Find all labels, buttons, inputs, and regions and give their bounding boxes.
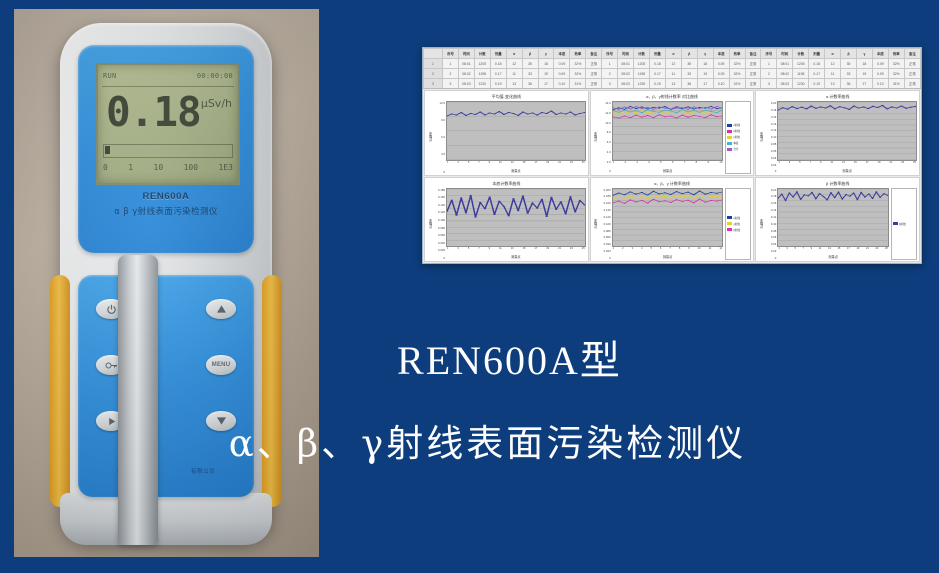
chart-title: 本底计数率曲线 — [427, 180, 586, 188]
table-cell: 36 — [522, 79, 538, 89]
chart-x-tick: 3 — [632, 247, 633, 254]
table-header-cell: 计数 — [634, 49, 650, 59]
table-cell: 0.18 — [490, 59, 506, 69]
legend-swatch — [893, 222, 898, 225]
chart-title: α、β、γ 计数率曲线 — [593, 180, 752, 188]
legend-item: 合计 — [727, 146, 749, 152]
chart-x-tick: 21 — [558, 247, 561, 254]
device-footer-right: 有限公司 — [191, 467, 215, 475]
table-cell: 32% — [888, 59, 904, 69]
table-cell: 08:01 — [618, 59, 634, 69]
chart-y-tick: 0.08 — [764, 229, 776, 233]
chart-x-tick: 1 — [778, 161, 779, 168]
chart-x-tick: 1 — [447, 161, 448, 168]
table-cell: 0.10 — [872, 79, 888, 89]
table-cell: 32% — [729, 69, 745, 79]
chart-x-tick: 12 — [719, 247, 722, 254]
table-header-cell: 备注 — [586, 49, 602, 59]
lcd-scale-0: 0 — [103, 163, 108, 172]
chart-y-tick: 0.16 — [764, 201, 776, 205]
chart-x-tick: 3 — [457, 161, 458, 168]
chart-y-ticks: 0.200.180.160.140.120.100.080.060.040.02… — [764, 188, 777, 261]
chart-x-tick: 7 — [803, 247, 804, 254]
chart-x-tick: 17 — [534, 247, 537, 254]
chart-y-tick: 0 — [764, 169, 776, 173]
chart-x-tick: 13 — [511, 161, 514, 168]
chart-y-tick: 0.020 — [599, 249, 611, 253]
legend-swatch — [727, 148, 732, 151]
legend-swatch — [727, 228, 732, 231]
table-row-header: 1 — [424, 59, 443, 69]
chart-x-tick: 7 — [478, 161, 479, 168]
chart-legend: β射线 — [891, 188, 917, 261]
table-cell: 3 — [602, 79, 618, 89]
chart-y-tick: 0.04 — [764, 242, 776, 246]
table-header-cell: β — [522, 49, 538, 59]
device-front-panel-top: RUN 00:00:00 0.18 μSv/h 0 1 10 100 1E3 — [78, 45, 254, 253]
charts-grid: 平均值-变化曲线计数率12.09.06.03.00135791113151719… — [423, 89, 921, 263]
lcd-scale-labels: 0 1 10 100 1E3 — [103, 160, 233, 174]
chart-legend: α射线γ射线β射线 — [725, 188, 751, 261]
grip-left-accent — [50, 275, 70, 507]
table-header-cell: 序号 — [602, 49, 618, 59]
table-cell: 0.19 — [649, 79, 665, 89]
table-cell: 35 — [522, 59, 538, 69]
chart-y-tick: 3.0 — [433, 152, 445, 156]
chart-title: α、β、γ射线计数率 对比曲线 — [593, 93, 752, 101]
chart-y-tick: 0.04 — [764, 156, 776, 160]
table-cell: 1 — [443, 59, 459, 69]
chart-x-tick: 5 — [650, 247, 651, 254]
chart-x-tick: 21 — [866, 247, 869, 254]
chart-x-tick: 9 — [708, 161, 709, 168]
chart-title: 平均值-变化曲线 — [427, 93, 586, 101]
chart-x-tick: 1 — [778, 247, 779, 254]
table-header-cell: 计数 — [793, 49, 809, 59]
legend-swatch — [727, 222, 732, 225]
table-cell: 17 — [856, 79, 872, 89]
chart-x-tick: 4 — [648, 161, 649, 168]
chart-x-tick: 5 — [468, 247, 469, 254]
chart-x-tick: 3 — [789, 161, 790, 168]
table-cell: 0.18 — [649, 59, 665, 69]
lcd-scale-1: 1 — [128, 163, 133, 172]
table-cell: 正常 — [586, 59, 602, 69]
table-header-cell: 时间 — [777, 49, 793, 59]
table-cell: 0.09 — [554, 69, 570, 79]
table-row: 3308:0312300.191336170.1031%正常308:031230… — [424, 79, 921, 89]
table-cell: 0.10 — [713, 79, 729, 89]
chart-y-tick: 0 — [599, 256, 611, 260]
chart-x-axis-label: 测量点 — [446, 254, 586, 260]
chart-x-tick: 23 — [875, 247, 878, 254]
chart-y-tick: 0 — [433, 256, 445, 260]
device-model-sublabel: α β γ射线表面污染检测仪 — [78, 205, 254, 217]
table-cell: 1230 — [474, 79, 490, 89]
table-cell: 08:02 — [618, 69, 634, 79]
table-cell: 11 — [825, 69, 841, 79]
lcd-divider — [102, 86, 234, 87]
table-cell: 0.09 — [872, 59, 888, 69]
legend-swatch — [727, 216, 732, 219]
table-header-cell: 序号 — [761, 49, 777, 59]
triangle-up-icon — [216, 304, 227, 314]
table-cell: 3 — [443, 79, 459, 89]
chart-y-tick: 4.0 — [599, 150, 611, 154]
table-cell: 正常 — [904, 59, 920, 69]
chart-legend: α射线β射线γ射线本底合计 — [725, 101, 751, 174]
table-cell: 1230 — [793, 79, 809, 89]
legend-label: β射线 — [733, 129, 740, 133]
table-cell: 08:02 — [458, 69, 474, 79]
chart-y-tick: 0.140 — [599, 208, 611, 212]
chart-x-tick: 11 — [499, 161, 502, 168]
chart-x-tick: 23 — [570, 247, 573, 254]
chart-x-tick: 6 — [660, 247, 661, 254]
table-cell: 0.17 — [809, 69, 825, 79]
chart-x-ticks: 123456789101112 — [612, 247, 724, 254]
chart-y-ticks: 0.200.180.160.140.120.100.080.060.040.02… — [764, 101, 777, 174]
chart-y-tick: 0.040 — [599, 242, 611, 246]
chart-y-tick: 0.06 — [764, 235, 776, 239]
chart-y-tick: 0.02 — [764, 163, 776, 167]
table-cell: 11 — [665, 69, 681, 79]
chart-x-tick: 17 — [534, 161, 537, 168]
table-cell: 正常 — [904, 79, 920, 89]
lcd-scale-3: 100 — [184, 163, 198, 172]
chart-x-tick: 23 — [901, 161, 904, 168]
chart-x-tick: 25 — [885, 247, 888, 254]
grip-right-accent — [262, 275, 282, 507]
table-header-cell: α — [825, 49, 841, 59]
table-header-cell: γ — [856, 49, 872, 59]
table-cell: 13 — [506, 79, 522, 89]
chart-x-axis-label: 测量点 — [777, 254, 889, 260]
chart-y-tick: 0.06 — [764, 149, 776, 153]
chart-x-ticks: 135791113151719212325 — [446, 247, 586, 254]
table-cell: 18 — [856, 59, 872, 69]
chart-y-tick: 0.18 — [764, 194, 776, 198]
chart-x-tick: 5 — [468, 161, 469, 168]
data-table-grid: 序号时间计数剂量αβγ本底效率备注序号时间计数剂量αβγ本底效率备注序号时间计数… — [423, 48, 921, 89]
chart-x-tick: 19 — [546, 247, 549, 254]
chart-x-tick: 2 — [622, 247, 623, 254]
chart-x-tick: 7 — [810, 161, 811, 168]
table-cell: 2 — [443, 69, 459, 79]
chart-x-tick: 11 — [499, 247, 502, 254]
software-screenshot: 序号时间计数剂量αβγ本底效率备注序号时间计数剂量αβγ本底效率备注序号时间计数… — [422, 47, 922, 264]
table-header-cell: 序号 — [443, 49, 459, 59]
chart-x-tick: 3 — [457, 247, 458, 254]
table-cell: 正常 — [586, 69, 602, 79]
chart-x-tick: 13 — [828, 247, 831, 254]
chart-x-tick: 4 — [641, 247, 642, 254]
chart-y-tick: 12.0 — [599, 111, 611, 115]
legend-swatch — [727, 142, 732, 145]
table-cell: 2 — [761, 69, 777, 79]
table-cell: 32% — [570, 59, 586, 69]
chart-x-tick: 9 — [820, 161, 821, 168]
legend-label: 合计 — [733, 147, 738, 151]
chart-y-tick: 0.180 — [433, 188, 445, 192]
chart-panel: 平均值-变化曲线计数率12.09.06.03.00135791113151719… — [424, 90, 589, 176]
chart-y-tick: 0.10 — [764, 222, 776, 226]
chart-x-tick: 13 — [511, 247, 514, 254]
legend-item: β射线 — [893, 221, 915, 227]
chart-y-tick: 0 — [433, 170, 445, 174]
table-cell: 08:03 — [458, 79, 474, 89]
legend-label: γ射线 — [733, 135, 739, 139]
chart-x-tick: 10 — [719, 161, 722, 168]
chart-y-tick: 0.080 — [433, 226, 445, 230]
table-cell: 1205 — [634, 59, 650, 69]
chart-x-ticks: 135791113151719212325 — [777, 247, 889, 254]
chart-x-tick: 25 — [582, 161, 585, 168]
chart-y-ticks: 14.012.010.08.06.04.02.00 — [599, 101, 612, 174]
chart-x-tick: 5 — [794, 247, 795, 254]
table-row: 1108:0112050.181235180.0932%正常108:011205… — [424, 59, 921, 69]
chart-x-tick: 3 — [636, 161, 637, 168]
chart-x-tick: 7 — [684, 161, 685, 168]
table-row-header: 2 — [424, 69, 443, 79]
chart-x-tick: 1 — [613, 247, 614, 254]
chart-y-tick: 14.0 — [599, 101, 611, 105]
chart-x-tick: 9 — [489, 161, 490, 168]
chart-y-tick: 0.160 — [433, 195, 445, 199]
table-cell: 19 — [697, 69, 713, 79]
table-header-cell: 本底 — [554, 49, 570, 59]
chart-plot-area — [777, 188, 889, 248]
chart-y-tick: 0.10 — [764, 135, 776, 139]
chart-y-tick: 0.16 — [764, 115, 776, 119]
table-header-cell: γ — [538, 49, 554, 59]
chart-y-tick: 0 — [599, 169, 611, 173]
table-cell: 35 — [681, 59, 697, 69]
chart-x-tick: 19 — [856, 247, 859, 254]
legend-label: γ射线 — [733, 222, 739, 226]
table-cell: 1198 — [634, 69, 650, 79]
legend-label: 本底 — [733, 141, 738, 145]
table-header-cell: 本底 — [872, 49, 888, 59]
table-cell: 33 — [522, 69, 538, 79]
chart-y-tick: 0.20 — [764, 188, 776, 192]
table-cell: 0.09 — [713, 69, 729, 79]
table-cell: 17 — [538, 79, 554, 89]
table-cell: 正常 — [745, 79, 761, 89]
chart-y-tick: 0.120 — [433, 210, 445, 214]
table-header-cell: β — [841, 49, 857, 59]
chart-x-tick: 1 — [447, 247, 448, 254]
table-cell: 08:01 — [458, 59, 474, 69]
table-cell: 36 — [841, 79, 857, 89]
chart-y-tick: 0.060 — [599, 235, 611, 239]
chart-y-tick: 0 — [764, 256, 776, 260]
chart-y-tick: 12.0 — [433, 101, 445, 105]
table-cell: 1198 — [793, 69, 809, 79]
legend-swatch — [727, 130, 732, 133]
table-header-cell: 剂量 — [809, 49, 825, 59]
power-icon — [106, 304, 117, 315]
table-cell: 08:03 — [618, 79, 634, 89]
table-header-cell: β — [681, 49, 697, 59]
table-header-cell: α — [665, 49, 681, 59]
chart-y-tick: 10.0 — [599, 121, 611, 125]
chart-y-tick: 0.12 — [764, 128, 776, 132]
lcd-scale-4: 1E3 — [219, 163, 233, 172]
table-cell: 12 — [506, 59, 522, 69]
lcd-status-bar: RUN 00:00:00 — [103, 68, 233, 84]
table-cell: 32% — [888, 69, 904, 79]
chart-y-tick: 0.200 — [599, 188, 611, 192]
table-cell: 0.19 — [490, 79, 506, 89]
table-header-row: 序号时间计数剂量αβγ本底效率备注序号时间计数剂量αβγ本底效率备注序号时间计数… — [424, 49, 921, 59]
chart-y-tick: 0.020 — [433, 248, 445, 252]
data-table: 序号时间计数剂量αβγ本底效率备注序号时间计数剂量αβγ本底效率备注序号时间计数… — [423, 48, 921, 89]
chart-y-tick: 0.100 — [599, 222, 611, 226]
chart-x-tick: 19 — [546, 161, 549, 168]
chart-x-tick: 9 — [688, 247, 689, 254]
chart-x-tick: 5 — [799, 161, 800, 168]
chart-plot-area — [446, 101, 586, 161]
legend-label: α射线 — [733, 216, 740, 220]
table-cell: 31% — [729, 79, 745, 89]
chart-y-tick: 0.120 — [599, 215, 611, 219]
table-cell: 3 — [761, 79, 777, 89]
chart-x-tick: 9 — [811, 247, 812, 254]
chart-y-tick: 0.140 — [433, 203, 445, 207]
table-cell: 08:01 — [777, 59, 793, 69]
table-cell: 1205 — [793, 59, 809, 69]
table-cell: 正常 — [586, 79, 602, 89]
chart-panel: 本底计数率曲线计数率0.1800.1600.1400.1200.1000.080… — [424, 177, 589, 263]
chart-x-tick: 23 — [570, 161, 573, 168]
table-cell: 0.09 — [554, 59, 570, 69]
chart-y-tick: 0.12 — [764, 215, 776, 219]
chart-y-tick: 0.14 — [764, 208, 776, 212]
chart-x-ticks: 135791113151719212325 — [446, 161, 586, 168]
chart-plot-area — [777, 101, 917, 161]
table-cell: 11 — [506, 69, 522, 79]
table-cell: 0.09 — [713, 59, 729, 69]
chart-y-tick: 0.080 — [599, 229, 611, 233]
table-header-cell: γ — [697, 49, 713, 59]
lcd-status-left: RUN — [103, 72, 117, 80]
product-photo: RUN 00:00:00 0.18 μSv/h 0 1 10 100 1E3 — [14, 9, 319, 557]
table-row-header: 3 — [424, 79, 443, 89]
chart-x-axis-label: 测量点 — [446, 168, 586, 174]
chart-y-tick: 2.0 — [599, 160, 611, 164]
table-header-cell: α — [506, 49, 522, 59]
table-cell: 31% — [888, 79, 904, 89]
chart-x-ticks: 135791113151719212325 — [777, 161, 917, 168]
chart-x-tick: 25 — [582, 247, 585, 254]
chart-y-tick: 8.0 — [599, 130, 611, 134]
table-header-cell: 时间 — [458, 49, 474, 59]
table-cell: 0.09 — [872, 69, 888, 79]
chart-x-tick: 8 — [696, 161, 697, 168]
table-cell: 1205 — [474, 59, 490, 69]
lcd-scale-2: 10 — [154, 163, 164, 172]
table-row: 2208:0211980.171133190.0932%正常208:021198… — [424, 69, 921, 79]
chart-x-tick: 3 — [786, 247, 787, 254]
chart-x-tick: 1 — [613, 161, 614, 168]
lcd-reading-value: 0.18 — [106, 89, 201, 135]
table-cell: 17 — [697, 79, 713, 89]
chart-x-ticks: 12345678910 — [612, 161, 724, 168]
chart-y-tick: 0.08 — [764, 142, 776, 146]
table-cell: 18 — [697, 59, 713, 69]
table-cell: 0.17 — [490, 69, 506, 79]
chart-y-tick: 0.180 — [599, 194, 611, 198]
table-cell: 32% — [729, 59, 745, 69]
chart-y-ticks: 0.1800.1600.1400.1200.1000.0800.0600.040… — [433, 188, 446, 261]
chart-title: β 计数率曲线 — [758, 180, 917, 188]
table-header-cell: 本底 — [713, 49, 729, 59]
chart-x-tick: 15 — [837, 247, 840, 254]
chart-plot-area — [612, 101, 724, 161]
chart-y-tick: 0.060 — [433, 233, 445, 237]
chart-x-tick: 7 — [478, 247, 479, 254]
chart-x-tick: 17 — [847, 247, 850, 254]
table-header-cell: 剂量 — [649, 49, 665, 59]
legend-label: β射线 — [899, 222, 906, 226]
chart-x-axis-label: 测量点 — [612, 254, 724, 260]
table-cell: 33 — [681, 69, 697, 79]
table-header-cell: 时间 — [618, 49, 634, 59]
chart-plot-area — [612, 188, 724, 248]
table-cell: 1 — [761, 59, 777, 69]
table-cell: 13 — [665, 79, 681, 89]
chart-y-tick: 6.0 — [599, 140, 611, 144]
table-cell: 正常 — [904, 69, 920, 79]
up-button[interactable] — [206, 299, 236, 319]
table-cell: 正常 — [745, 69, 761, 79]
chart-x-tick: 11 — [709, 247, 712, 254]
legend-swatch — [727, 124, 732, 127]
chart-x-tick: 7 — [669, 247, 670, 254]
table-cell: 36 — [681, 79, 697, 89]
table-cell: 1230 — [634, 79, 650, 89]
chart-x-tick: 13 — [842, 161, 845, 168]
table-header-cell: 效率 — [570, 49, 586, 59]
table-cell: 正常 — [745, 59, 761, 69]
table-header-cell: 效率 — [888, 49, 904, 59]
lcd-status-right: 00:00:00 — [197, 72, 233, 80]
table-cell: 0.18 — [809, 59, 825, 69]
chart-title: α 计数率曲线 — [758, 93, 917, 101]
chart-plot-area — [446, 188, 586, 248]
chart-panel: α 计数率曲线计数率0.200.180.160.140.120.100.080.… — [755, 90, 920, 176]
chart-x-tick: 15 — [523, 161, 526, 168]
chart-x-tick: 19 — [878, 161, 881, 168]
chart-y-tick: 0.14 — [764, 122, 776, 126]
lcd-display: RUN 00:00:00 0.18 μSv/h 0 1 10 100 1E3 — [96, 63, 240, 185]
table-cell: 1198 — [474, 69, 490, 79]
device-footer-brand: 仪器科技 有限公司 — [78, 467, 254, 475]
device-model-label: REN600A — [78, 191, 254, 202]
chart-y-tick: 0.160 — [599, 201, 611, 205]
table-cell: 0.10 — [554, 79, 570, 89]
chart-y-ticks: 12.09.06.03.00 — [433, 101, 446, 174]
chart-x-tick: 25 — [913, 161, 916, 168]
chart-x-tick: 21 — [889, 161, 892, 168]
chart-y-tick: 6.0 — [433, 135, 445, 139]
table-cell: 32% — [570, 69, 586, 79]
table-cell: 2 — [602, 69, 618, 79]
chart-y-tick: 0.100 — [433, 218, 445, 222]
chart-y-tick: 0.20 — [764, 101, 776, 105]
chart-x-axis-label: 测量点 — [777, 168, 917, 174]
